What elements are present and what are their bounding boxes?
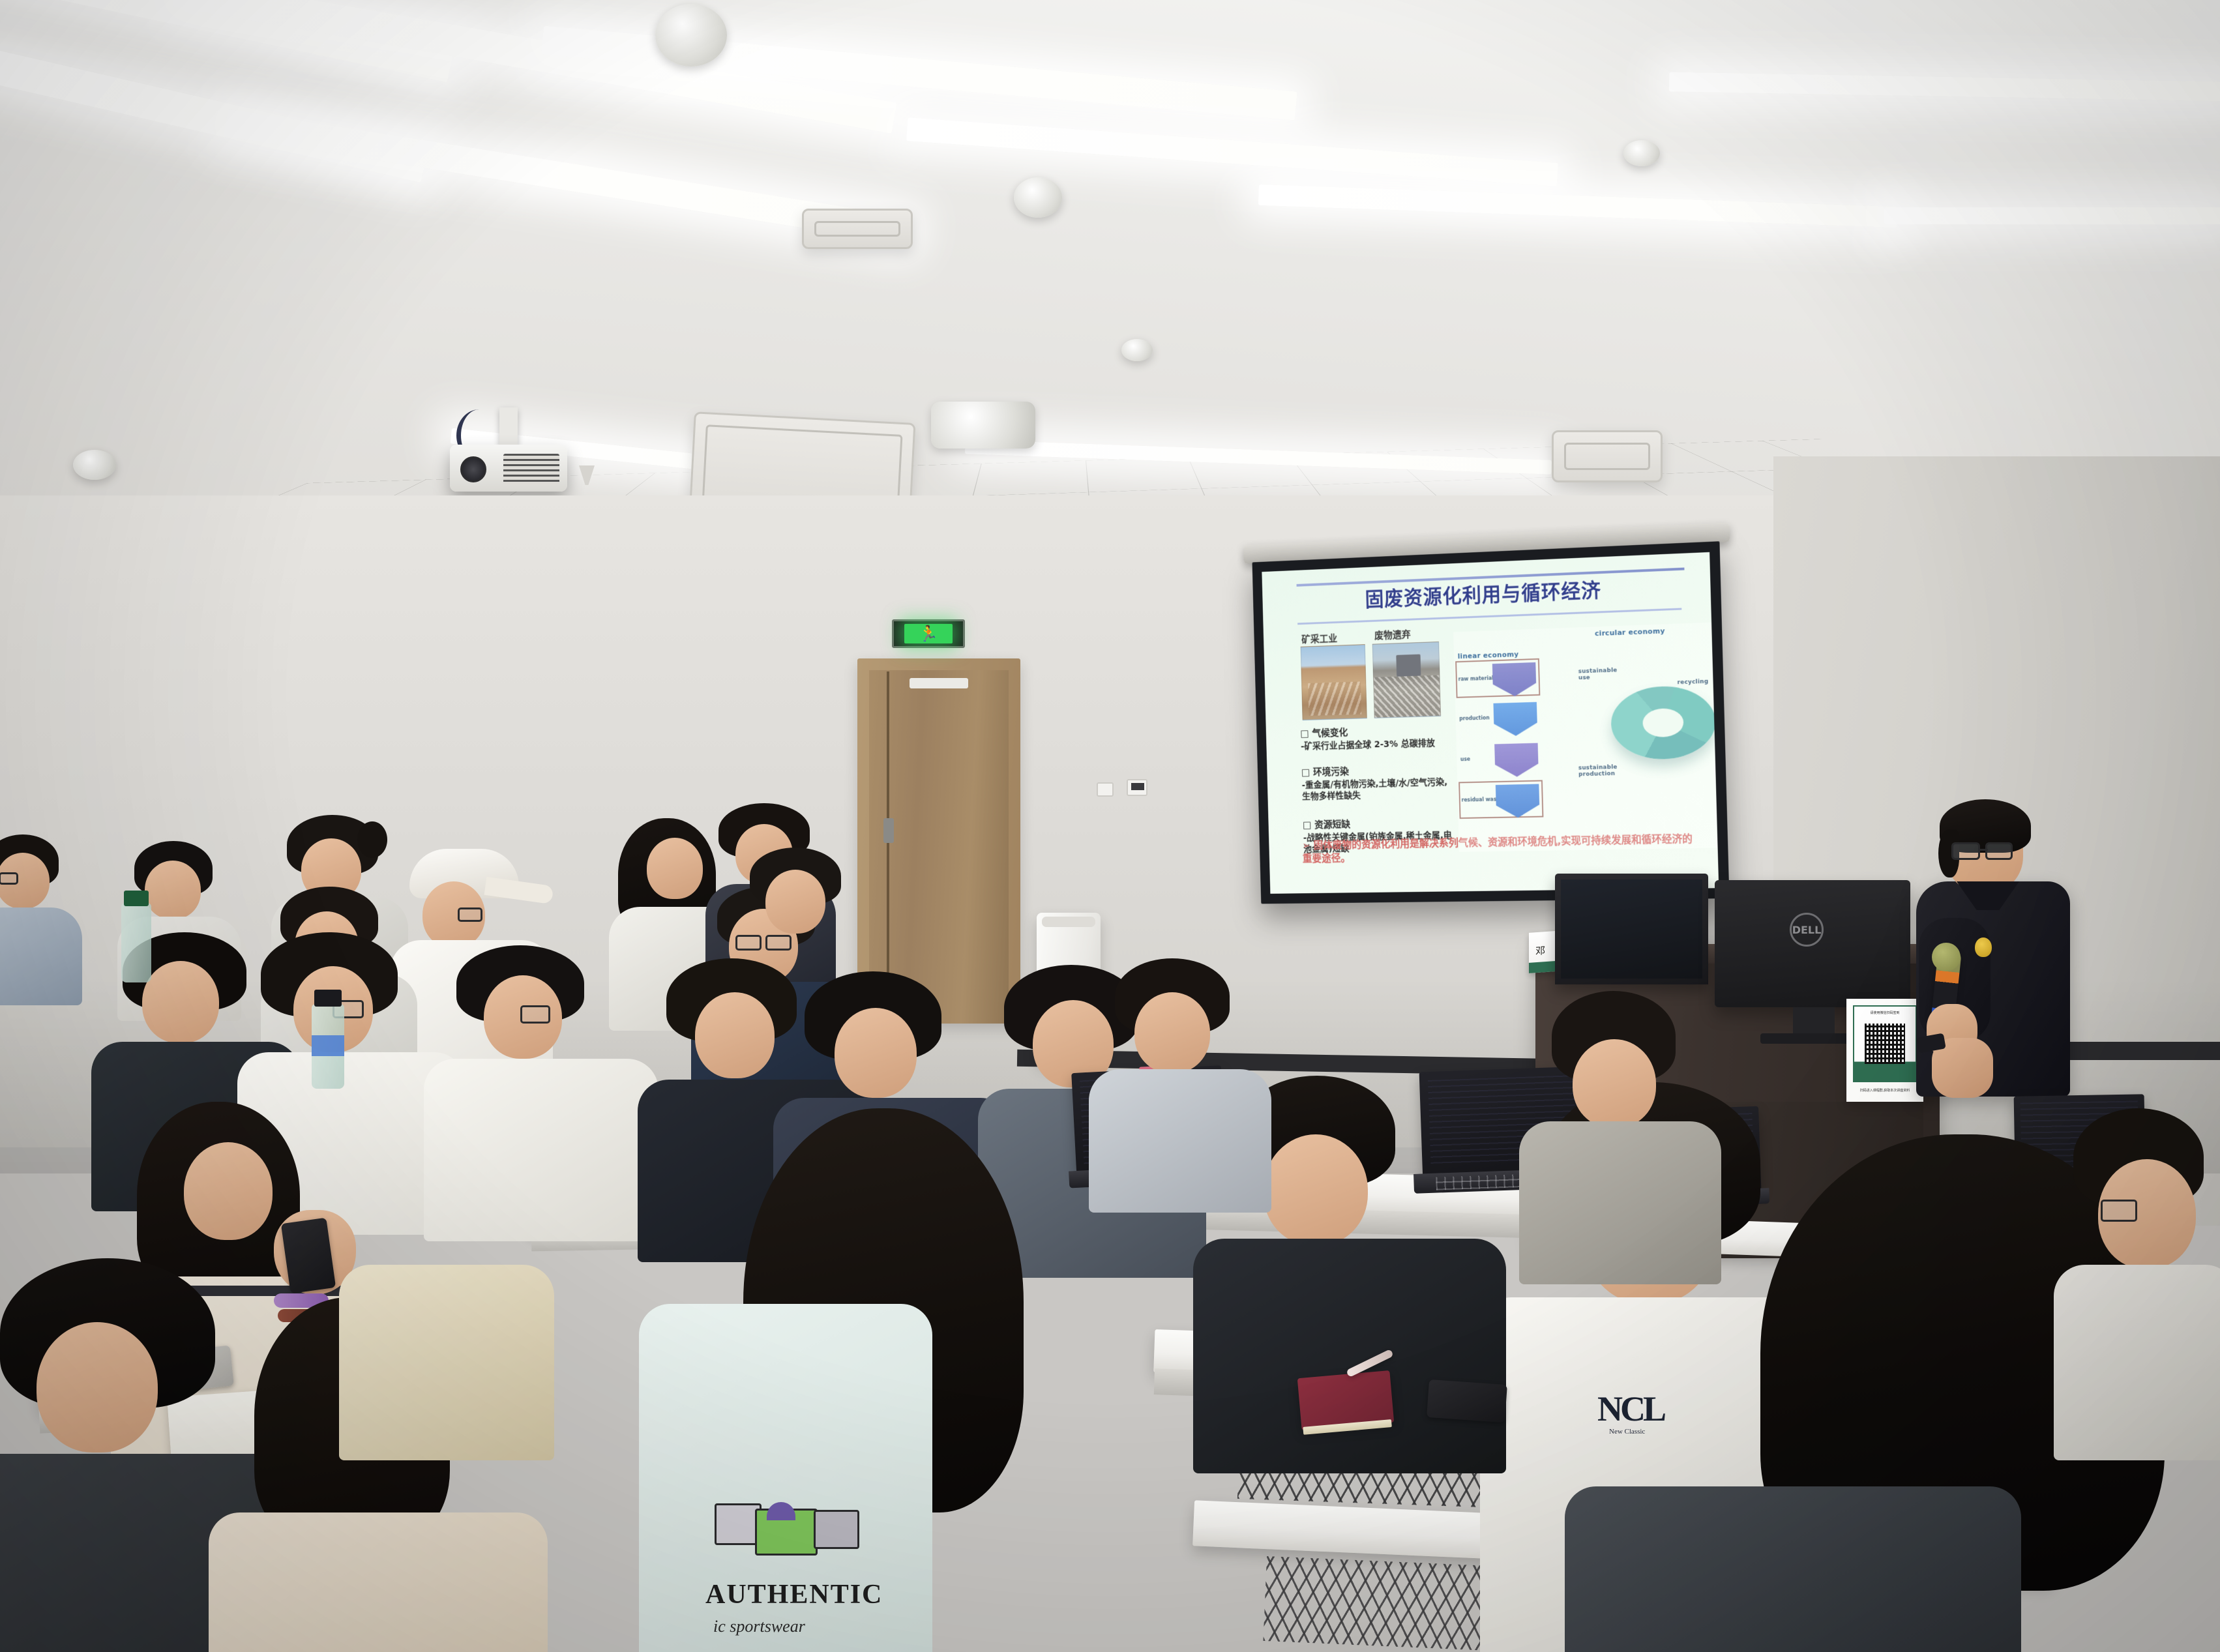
person-head [765,870,825,934]
ceiling-light-panel [0,47,428,183]
audience-member-graphic-tee: AUTHENTIC ic sportswear [659,1108,1076,1652]
person-head [184,1142,273,1240]
photo-label-mining: 矿采工业 [1301,631,1337,645]
person-body [339,1265,554,1460]
ceiling-light-panel [906,117,1558,186]
smartphone[interactable] [281,1218,336,1294]
qr-code-icon[interactable] [1865,1024,1905,1064]
bottle-cap-icon [314,990,342,1007]
ceiling-light-panel [1884,207,2220,224]
circular-label-sustainable-use: sustainable use [1578,668,1616,682]
person-body [1193,1239,1506,1473]
bullet-pollution: □ 环境污染 -重金属/有机物污染,土壤/水/空气污染,生物多样性缺失 [1301,761,1453,803]
step-label-use: use [1460,756,1470,762]
person-head [1573,1039,1656,1128]
ceiling-speaker-icon [655,4,727,66]
character-hat-icon [767,1502,795,1520]
person-head [695,992,775,1078]
podium-laptop[interactable] [1555,874,1708,984]
circular-economy-heading: circular economy [1595,627,1665,638]
smoke-detector-icon [1121,339,1153,361]
economy-diagram: linear economy circular economy raw mate… [1453,622,1719,851]
person-body [1565,1486,2021,1652]
audience-member [1513,991,1728,1252]
polo-shirt-emblem-icon [1975,937,1992,957]
smartphone[interactable] [1427,1379,1507,1423]
light-switch[interactable] [1097,782,1114,797]
ac-ceiling-vent [1552,430,1663,482]
eyeglasses-bridge [1979,849,1988,851]
projector-mount [499,407,518,445]
audience-member-glasses [443,945,639,1173]
person-head [142,961,219,1043]
waste-structure-icon [1396,655,1421,677]
tshirt-text-sportswear: ic sportswear [713,1617,805,1636]
qr-sign-caption-top: 请使用微信扫码签到 [1854,1010,1916,1015]
audience-member [0,834,65,965]
running-man-icon: 🏃 [919,626,938,642]
smoke-detector-icon [73,450,116,480]
eyeglasses-icon [2101,1200,2137,1222]
bottle-label [312,1035,344,1056]
bullet-scarcity-heading: □ 资源短缺 [1303,815,1455,831]
chevron-use-icon [1494,743,1539,778]
purifier-vent-icon [1042,917,1095,927]
presentation-slide: 固废资源化利用与循环经济 矿采工业 废物遗弃 □ 气候变化 -矿采行业占据全球 … [1262,552,1719,894]
person-head [37,1322,158,1453]
eyeglasses-icon [1985,842,2013,860]
chevron-production-icon [1493,702,1537,737]
audience-member-glasses [2060,1108,2220,1447]
projection-screen: 固废资源化利用与循环经济 矿采工业 废物遗弃 □ 气候变化 -矿采行业占据全球 … [1252,535,1730,911]
bullet-climate: □ 气候变化 -矿采行业占据全球 2-3% 总碳排放 [1300,722,1451,753]
eyeglasses-icon [1951,842,1980,860]
circular-economy-donut [1610,685,1717,760]
monitor-stand [1793,1007,1835,1036]
emergency-exit-sign: 🏃 [892,619,965,648]
projector-vent-icon [503,454,559,485]
photo-label-waste: 废物遗弃 [1374,627,1411,642]
qr-sign-inner: 请使用微信扫码签到 [1853,1005,1917,1082]
projector-lens-icon [460,456,486,482]
person-body [2054,1265,2220,1460]
person-body [0,907,82,1005]
person-head [1134,992,1210,1073]
hair-bun-icon [357,821,387,858]
person-head [647,838,703,899]
person-head [145,861,201,919]
audience-member [743,848,867,1004]
audience-member [339,1167,554,1441]
smoke-detector-icon [1014,177,1062,218]
crocodile-character-icon [814,1510,859,1549]
bullet-pollution-body: -重金属/有机物污染,土壤/水/空气污染,生物多样性缺失 [1302,777,1453,803]
room-door[interactable] [869,670,1009,1024]
ncl-logo-text: NCL [1597,1389,1664,1429]
bullet-pollution-heading: □ 环境污染 [1301,761,1453,778]
circular-label-sustainable-production: sustainable production [1578,764,1620,778]
tshirt-text-authentic: AUTHENTIC [705,1579,883,1610]
circular-label-recycling: recycling [1677,679,1708,686]
burgundy-notebook [1297,1370,1394,1430]
person-head [1264,1134,1368,1245]
wall-thermostat[interactable] [1127,779,1147,796]
person-body [209,1512,548,1652]
ac-ceiling-vent [802,209,913,249]
screen-bezel: 固废资源化利用与循环经济 矿采工业 废物遗弃 □ 气候变化 -矿采行业占据全球 … [1252,541,1730,904]
bullet-climate-body: -矿采行业占据全球 2-3% 总碳排放 [1301,737,1451,753]
wifi-access-point-icon [931,402,1035,449]
microphone-windscreen-icon [1932,943,1961,971]
door-seam [887,671,889,1024]
step-label-production: production [1459,715,1489,722]
eyeglasses-icon [458,907,482,922]
tshirt-graphic [711,1499,880,1578]
ceiling-light-panel [1669,72,2220,101]
ncl-sub-text: New Classic [1609,1428,1645,1436]
bottle-cap-icon [124,891,149,906]
presenter [1920,808,2070,1095]
person-head [835,1008,917,1098]
eyeglasses-icon [0,872,18,885]
door-closer [910,678,968,688]
ceiling-projector [450,445,567,492]
cap-brim [484,877,554,904]
exit-sign-glow: 🏃 [904,624,953,643]
waste-dump-photo [1372,642,1441,718]
arrow-bullet-icon: ➢ [1302,840,1310,851]
lecture-hall-photo: 🏃 固废资源化利用与循环经济 矿采工业 废物遗弃 [0,0,2220,1652]
water-bottle [121,903,151,982]
ceiling-light-panel [1258,184,1898,228]
mining-industry-photo [1301,644,1367,720]
person-body [1089,1069,1271,1213]
person-body [1519,1121,1721,1284]
smoke-detector-icon [1623,140,1660,166]
dell-logo-icon: DELL [1790,913,1824,947]
bullet-climate-heading: □ 气候变化 [1300,722,1451,740]
audience-member [1089,958,1271,1180]
audience-member [1565,1486,2021,1652]
eyeglasses-icon [520,1005,550,1024]
door-handle[interactable] [883,818,894,843]
